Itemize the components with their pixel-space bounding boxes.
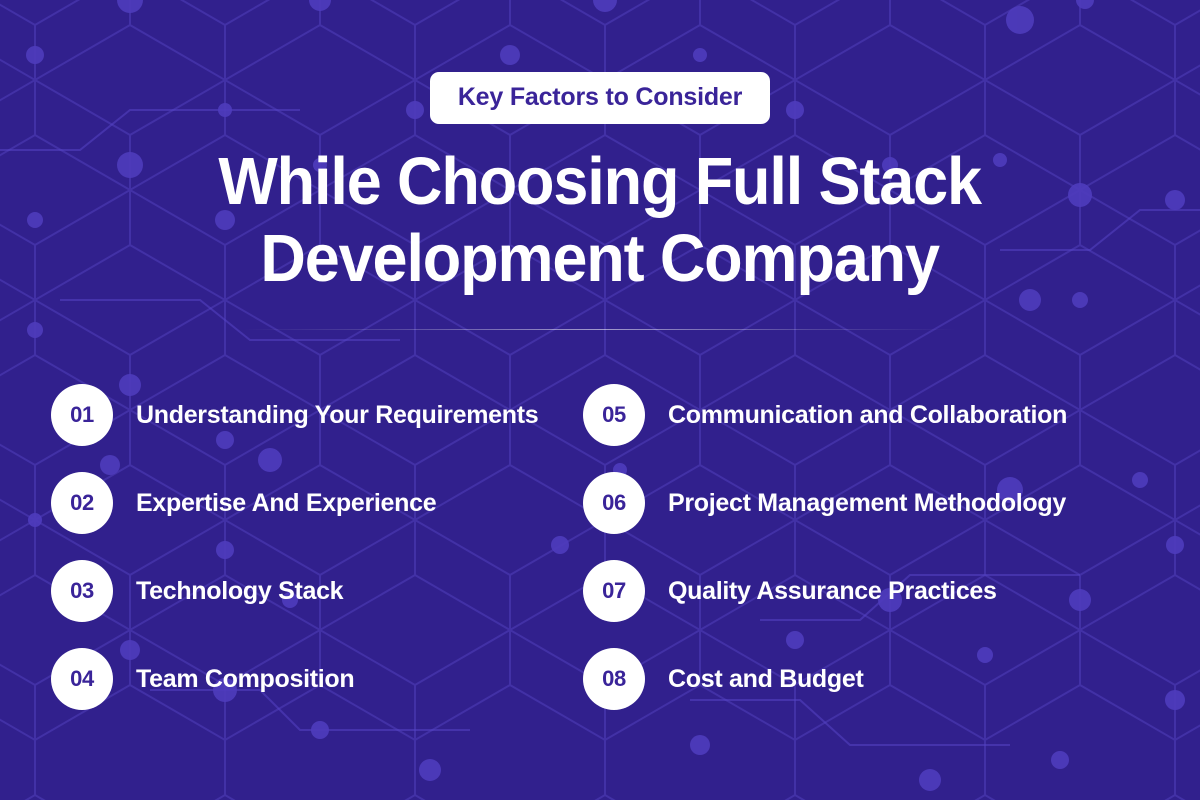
list-item-label: Communication and Collaboration	[668, 401, 1067, 430]
list-item-number-badge: 03	[51, 560, 113, 622]
factors-column-left: 01 Understanding Your Requirements 02 Ex…	[0, 384, 565, 736]
eyebrow-badge: Key Factors to Consider	[430, 72, 770, 124]
list-item[interactable]: 02 Expertise And Experience	[51, 472, 565, 534]
factors-list: 01 Understanding Your Requirements 02 Ex…	[0, 384, 1200, 736]
factors-column-right: 05 Communication and Collaboration 06 Pr…	[565, 384, 1130, 736]
list-item[interactable]: 04 Team Composition	[51, 648, 565, 710]
list-item-label: Quality Assurance Practices	[668, 577, 997, 606]
list-item-number-badge: 07	[583, 560, 645, 622]
section-divider	[240, 329, 960, 330]
list-item-label: Expertise And Experience	[136, 489, 436, 518]
list-item[interactable]: 06 Project Management Methodology	[583, 472, 1130, 534]
content-layer: Key Factors to Consider While Choosing F…	[0, 0, 1200, 800]
list-item[interactable]: 05 Communication and Collaboration	[583, 384, 1130, 446]
list-item-number-badge: 02	[51, 472, 113, 534]
page-title-line-2: Development Company	[219, 220, 982, 297]
list-item[interactable]: 07 Quality Assurance Practices	[583, 560, 1130, 622]
list-item-label: Project Management Methodology	[668, 489, 1066, 518]
badge-container: Key Factors to Consider	[430, 72, 770, 124]
list-item-label: Technology Stack	[136, 577, 343, 606]
list-item[interactable]: 03 Technology Stack	[51, 560, 565, 622]
infographic-canvas: Key Factors to Consider While Choosing F…	[0, 0, 1200, 800]
list-item[interactable]: 08 Cost and Budget	[583, 648, 1130, 710]
list-item-number-badge: 08	[583, 648, 645, 710]
list-item-number-badge: 04	[51, 648, 113, 710]
list-item[interactable]: 01 Understanding Your Requirements	[51, 384, 565, 446]
list-item-number-badge: 05	[583, 384, 645, 446]
list-item-number-badge: 01	[51, 384, 113, 446]
list-item-label: Team Composition	[136, 665, 354, 694]
list-item-label: Understanding Your Requirements	[136, 401, 538, 430]
page-title-line-1: While Choosing Full Stack	[219, 143, 982, 220]
page-title: While Choosing Full Stack Development Co…	[219, 143, 982, 297]
list-item-label: Cost and Budget	[668, 665, 864, 694]
list-item-number-badge: 06	[583, 472, 645, 534]
